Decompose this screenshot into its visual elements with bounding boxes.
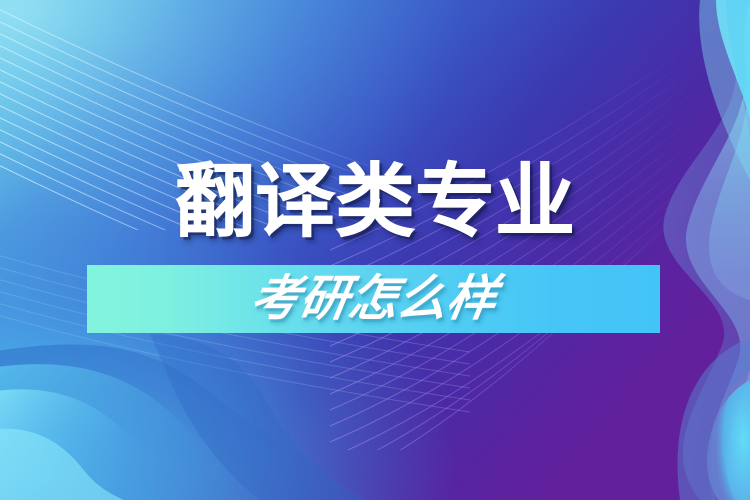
promo-banner: 翻译类专业 考研怎么样 [0,0,750,500]
background-artwork [0,0,750,500]
subtitle-banner-bar: 考研怎么样 [87,265,660,333]
subtitle-text: 考研怎么样 [247,275,500,324]
